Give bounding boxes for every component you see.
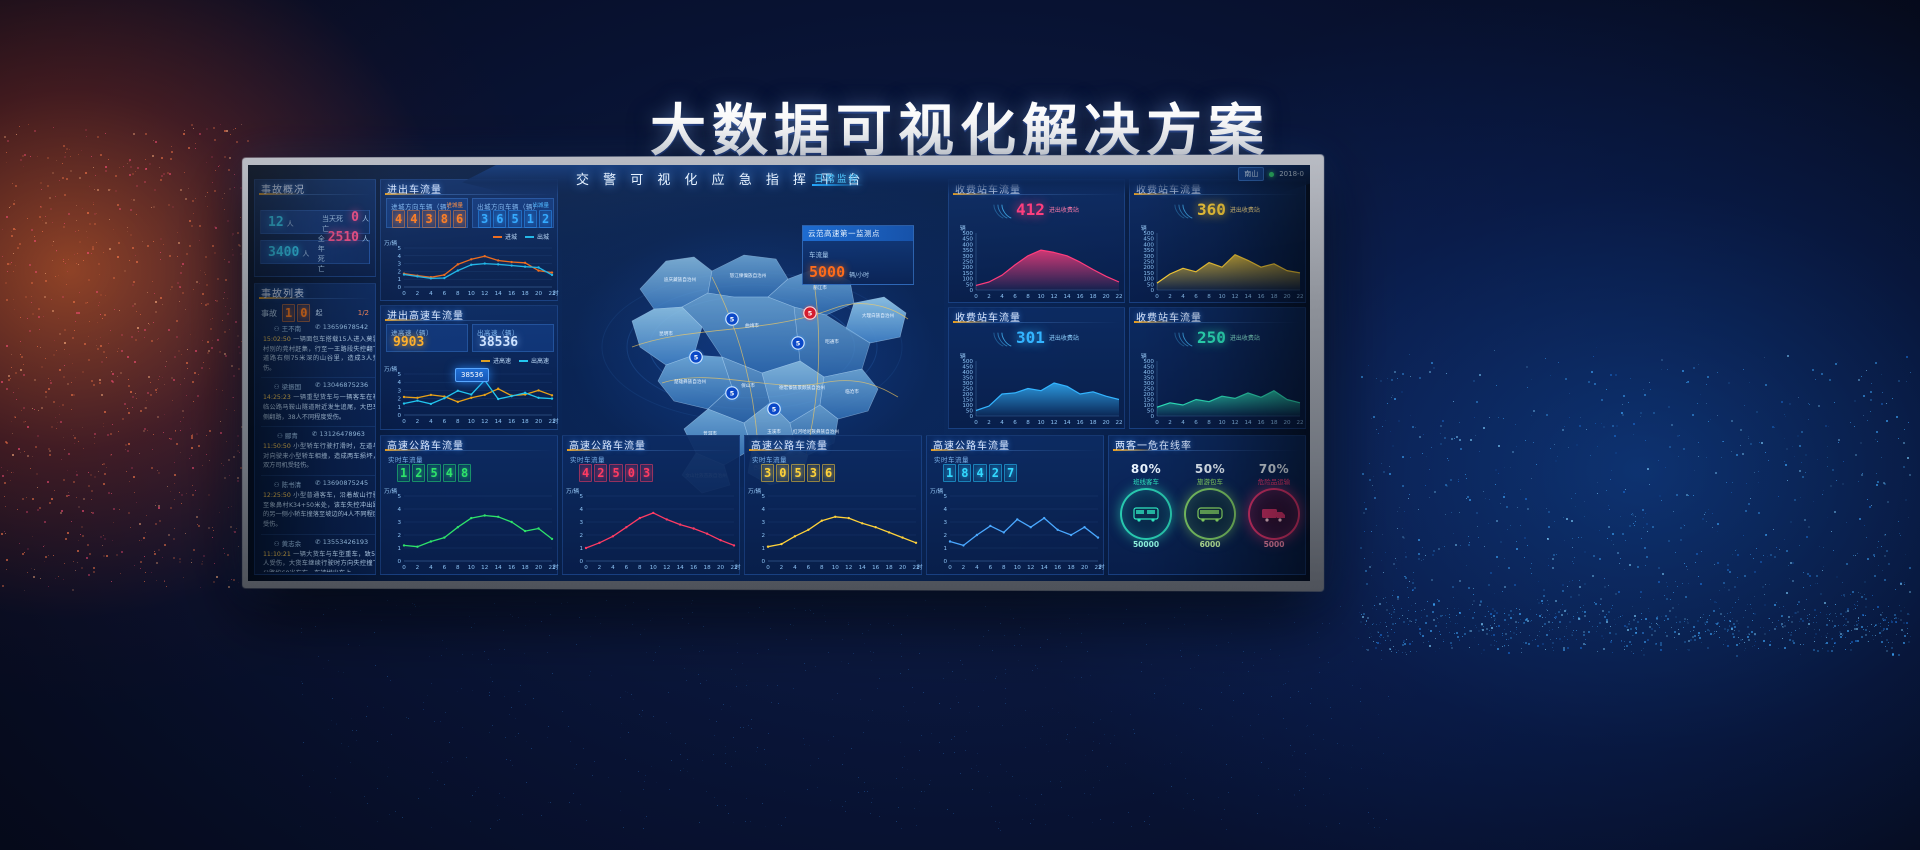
svg-text:8: 8 bbox=[1207, 420, 1211, 426]
svg-text:22: 22 bbox=[1296, 420, 1303, 426]
svg-text:4: 4 bbox=[429, 565, 433, 571]
svg-text:2: 2 bbox=[598, 565, 602, 571]
svg-text:0: 0 bbox=[766, 565, 770, 571]
dashboard-header: 交 警 可 视 化 应 急 指 挥 平 台 日常监控 bbox=[462, 165, 1310, 195]
accident-pager[interactable]: 1/2 bbox=[358, 309, 369, 317]
accident-text: 12:25:50 小型普通客车，沿着故山行驶至象鼻村K34+50米处，该车失控冲… bbox=[261, 489, 375, 529]
panel-title: 进出车流量 bbox=[387, 181, 442, 196]
svg-text:0: 0 bbox=[584, 565, 588, 571]
svg-text:18: 18 bbox=[704, 565, 712, 571]
panel-highway-flow-3: 高速公路车流量 实时车流量 30536 万/辆01234502468101214… bbox=[744, 435, 922, 575]
panel-title: 两客一危在线率 bbox=[1115, 437, 1192, 452]
digit: 2 bbox=[412, 464, 425, 482]
svg-text:0: 0 bbox=[761, 559, 765, 565]
accident-time: 12:25:50 bbox=[263, 492, 293, 499]
svg-text:万/辆: 万/辆 bbox=[384, 487, 397, 495]
accident-contact: ⚇ 郦青✆ 13126478963 bbox=[261, 430, 375, 440]
svg-text:20: 20 bbox=[1283, 420, 1291, 426]
svg-text:18: 18 bbox=[522, 291, 530, 297]
decorative-dot-field-bottom bbox=[300, 600, 1400, 840]
svg-text:20: 20 bbox=[899, 565, 907, 571]
svg-text:12: 12 bbox=[481, 419, 488, 425]
inout-digits-in: 44386 bbox=[392, 210, 466, 228]
digit: 6 bbox=[493, 210, 506, 228]
map-region-label: 保山市 bbox=[741, 382, 755, 389]
svg-text:2: 2 bbox=[416, 291, 420, 297]
toll-chart-3: 辆500450400350300250200150100500024681012… bbox=[950, 352, 1125, 428]
panel-header: 进出高速车流量 bbox=[381, 306, 557, 321]
panel-title: 收费站车流量 bbox=[1136, 309, 1202, 324]
svg-text:6: 6 bbox=[625, 565, 629, 571]
digit: 4 bbox=[579, 464, 592, 482]
svg-text:2: 2 bbox=[397, 533, 401, 539]
map-region-label: 迪庆藏族自治州 bbox=[664, 276, 697, 283]
svg-text:8: 8 bbox=[1207, 294, 1211, 300]
svg-text:万/辆: 万/辆 bbox=[748, 487, 761, 495]
svg-text:3: 3 bbox=[579, 520, 583, 526]
toll-big-number-4: 250 进出收费站 bbox=[1176, 326, 1260, 348]
panel-header: 事故列表 bbox=[255, 284, 375, 299]
svg-text:0: 0 bbox=[397, 413, 401, 419]
svg-text:16: 16 bbox=[872, 565, 880, 571]
panel-toll-3: 收费站车流量 301 进出收费站 辆5004504003503002502001… bbox=[948, 307, 1125, 429]
digit: 6 bbox=[453, 210, 466, 228]
panel-title: 收费站车流量 bbox=[955, 309, 1021, 324]
panel-highway-flow-2: 高速公路车流量 实时车流量 42503 万/辆01234502468101214… bbox=[562, 435, 740, 575]
svg-text:4: 4 bbox=[579, 507, 583, 513]
map-region-label: 楚雄彝族自治州 bbox=[674, 378, 707, 385]
svg-text:0: 0 bbox=[969, 288, 973, 294]
callout-value-row: 5000 辆/小时 bbox=[803, 261, 913, 284]
map-marker-label: 5 bbox=[730, 316, 735, 324]
svg-text:20: 20 bbox=[535, 419, 543, 425]
accident-text: 15:02:50 一辆面包车搭载15人进入莫雷村别的莞村赶集，行至一王路段失控翻… bbox=[261, 333, 375, 373]
svg-text:16: 16 bbox=[508, 419, 516, 425]
svg-text:1: 1 bbox=[397, 405, 401, 411]
digit: 5 bbox=[508, 210, 521, 228]
svg-text:8: 8 bbox=[456, 565, 460, 571]
svg-text:3: 3 bbox=[397, 520, 401, 526]
digit: 1 bbox=[397, 464, 410, 482]
svg-text:20: 20 bbox=[1283, 294, 1291, 300]
digit: 2 bbox=[539, 210, 552, 228]
svg-text:2: 2 bbox=[416, 419, 420, 425]
svg-text:4: 4 bbox=[1181, 420, 1185, 426]
svg-text:20: 20 bbox=[535, 565, 543, 571]
reporter-name: ⚇ 王不南 bbox=[274, 323, 301, 333]
tab-daily-monitor[interactable]: 日常监控 bbox=[814, 171, 860, 185]
toll-chart-1: 辆500450400350300250200150100500024681012… bbox=[950, 224, 1125, 302]
svg-text:2: 2 bbox=[1168, 420, 1172, 426]
svg-text:0: 0 bbox=[402, 565, 406, 571]
svg-text:20: 20 bbox=[1102, 294, 1110, 300]
svg-text:16: 16 bbox=[1257, 294, 1265, 300]
svg-text:时: 时 bbox=[1099, 563, 1105, 571]
reporter-phone: ✆ 13046875236 bbox=[315, 381, 368, 391]
svg-text:6: 6 bbox=[443, 565, 447, 571]
svg-text:18: 18 bbox=[1270, 294, 1278, 300]
svg-text:14: 14 bbox=[1063, 294, 1071, 300]
map-marker-label: 5 bbox=[808, 310, 813, 318]
digit: 2 bbox=[989, 464, 1002, 482]
panel-toll-4: 收费站车流量 250 进出收费站 辆5004504003503002502001… bbox=[1129, 307, 1306, 429]
svg-text:10: 10 bbox=[468, 291, 476, 297]
panel-title: 高速公路车流量 bbox=[751, 437, 828, 452]
svg-text:22: 22 bbox=[1115, 420, 1122, 426]
digit: 5 bbox=[427, 464, 440, 482]
svg-text:4: 4 bbox=[975, 565, 979, 571]
digit: 4 bbox=[443, 464, 456, 482]
svg-text:12: 12 bbox=[1050, 420, 1057, 426]
reporter-name: ⚇ 郦青 bbox=[277, 430, 298, 440]
svg-text:14: 14 bbox=[1041, 565, 1049, 571]
map-marker-label: 5 bbox=[730, 390, 735, 398]
svg-text:2: 2 bbox=[987, 294, 991, 300]
svg-text:时: 时 bbox=[553, 417, 559, 425]
accident-contact: ⚇ 陈书清✆ 13690875245 bbox=[261, 479, 375, 489]
accident-time: 11:50:50 bbox=[263, 443, 293, 450]
accident-items[interactable]: ⚇ 王不南✆ 1365967854215:02:50 一辆面包车搭载15人进入莫… bbox=[255, 320, 375, 572]
svg-text:3: 3 bbox=[397, 262, 401, 268]
svg-text:万/辆: 万/辆 bbox=[930, 487, 943, 495]
svg-text:6: 6 bbox=[1194, 420, 1198, 426]
svg-text:14: 14 bbox=[495, 565, 503, 571]
panel-title: 高速公路车流量 bbox=[387, 437, 464, 452]
svg-text:18: 18 bbox=[886, 565, 894, 571]
svg-text:2: 2 bbox=[397, 269, 401, 275]
overview-cell: 全年死亡2510人 bbox=[311, 230, 369, 274]
svg-text:1: 1 bbox=[397, 546, 401, 552]
svg-text:0: 0 bbox=[1150, 414, 1154, 420]
svg-text:12: 12 bbox=[481, 291, 488, 297]
accident-contact: ⚇ 王不南✆ 13659678542 bbox=[261, 323, 375, 333]
tab-underline bbox=[812, 184, 864, 186]
svg-text:16: 16 bbox=[508, 565, 516, 571]
svg-text:10: 10 bbox=[468, 419, 476, 425]
svg-text:12: 12 bbox=[1231, 294, 1238, 300]
svg-text:20: 20 bbox=[1102, 420, 1110, 426]
svg-text:18: 18 bbox=[1270, 420, 1278, 426]
reporter-phone: ✆ 13659678542 bbox=[315, 323, 368, 333]
panel-title: 事故概况 bbox=[261, 181, 305, 196]
digit: 5 bbox=[791, 464, 804, 482]
svg-text:16: 16 bbox=[690, 565, 698, 571]
svg-text:时: 时 bbox=[917, 563, 923, 571]
highway-chart-1: 万/辆0123450246810121416182022时 bbox=[382, 486, 558, 574]
svg-text:0: 0 bbox=[948, 565, 952, 571]
svg-text:6: 6 bbox=[1013, 420, 1017, 426]
accident-time: 14:25:23 bbox=[263, 394, 293, 401]
panel-highway-flow-1: 高速公路车流量 实时车流量 12548 万/辆01234502468101214… bbox=[380, 435, 558, 575]
svg-text:10: 10 bbox=[1218, 420, 1226, 426]
map-region-label: 昭通市 bbox=[825, 338, 839, 345]
map-region-label: 大理白族自治州 bbox=[862, 312, 895, 319]
svg-text:0: 0 bbox=[402, 291, 406, 297]
svg-text:12: 12 bbox=[845, 565, 852, 571]
svg-text:4: 4 bbox=[761, 507, 765, 513]
svg-text:12: 12 bbox=[481, 565, 488, 571]
svg-text:14: 14 bbox=[677, 565, 685, 571]
svg-text:22: 22 bbox=[1115, 294, 1122, 300]
svg-text:8: 8 bbox=[1026, 420, 1030, 426]
map-region-label: 曲靖市 bbox=[745, 322, 759, 329]
overview-cell: 12人 bbox=[261, 215, 315, 230]
reporter-phone: ✆ 13553426193 bbox=[315, 538, 368, 548]
map-marker-label: 5 bbox=[772, 406, 777, 414]
panel-accident-overview: 事故概况 12人 当天死亡0人 3400人 全年死亡2510人 bbox=[254, 179, 376, 277]
accident-text: 14:25:23 一辆重型货车与一辆客车在祥临公路马鞍山隧道附近发生追尾，大巴车… bbox=[261, 391, 375, 422]
svg-text:8: 8 bbox=[638, 565, 642, 571]
svg-text:6: 6 bbox=[1013, 294, 1017, 300]
svg-text:4: 4 bbox=[397, 507, 401, 513]
svg-text:0: 0 bbox=[1150, 288, 1154, 294]
svg-text:6: 6 bbox=[443, 291, 447, 297]
digit: 8 bbox=[958, 464, 971, 482]
accident-item[interactable]: ⚇ 黄志余✆ 1355342619311:10:21 一辆大货车与车型重车，致5… bbox=[261, 535, 375, 572]
highway-digits-4: 18427 bbox=[943, 464, 1017, 482]
overview-row-year: 3400人 全年死亡2510人 bbox=[260, 240, 370, 264]
panel-highway-flow-4: 高速公路车流量 实时车流量 18427 万/辆01234502468101214… bbox=[926, 435, 1104, 575]
svg-text:4: 4 bbox=[1000, 420, 1004, 426]
svg-text:14: 14 bbox=[1244, 294, 1252, 300]
reporter-phone: ✆ 13690875245 bbox=[315, 479, 368, 489]
svg-text:1: 1 bbox=[579, 546, 583, 552]
svg-text:0: 0 bbox=[974, 294, 978, 300]
svg-text:20: 20 bbox=[717, 565, 725, 571]
svg-text:22: 22 bbox=[1296, 294, 1303, 300]
reporter-name: ⚇ 陈书清 bbox=[274, 479, 301, 489]
svg-text:10: 10 bbox=[650, 565, 658, 571]
svg-text:1: 1 bbox=[761, 546, 765, 552]
svg-text:0: 0 bbox=[974, 420, 978, 426]
svg-text:5: 5 bbox=[579, 494, 583, 500]
accident-item[interactable]: ⚇ 王不南✆ 1365967854215:02:50 一辆面包车搭载15人进入莫… bbox=[261, 320, 375, 378]
coach-icon bbox=[1197, 506, 1223, 522]
digit: 3 bbox=[807, 464, 820, 482]
svg-text:18: 18 bbox=[522, 419, 530, 425]
accident-text: 11:50:50 小型轿车行驶打滑时，左道与对向驶来小型轿车相撞，造成两车损坏，… bbox=[261, 440, 375, 471]
svg-text:0: 0 bbox=[969, 414, 973, 420]
digit: 3 bbox=[640, 464, 653, 482]
digit: 2 bbox=[594, 464, 607, 482]
svg-text:万/辆: 万/辆 bbox=[566, 487, 579, 495]
map-region-label: 丽江市 bbox=[813, 284, 827, 291]
svg-text:10: 10 bbox=[1218, 294, 1226, 300]
digit: 3 bbox=[761, 464, 774, 482]
svg-text:6: 6 bbox=[989, 565, 993, 571]
svg-text:0: 0 bbox=[1155, 294, 1159, 300]
svg-text:4: 4 bbox=[429, 291, 433, 297]
decorative-dot-field-right bbox=[1360, 300, 1920, 720]
svg-text:0: 0 bbox=[1155, 420, 1159, 426]
map-region-label: 昆明市 bbox=[659, 330, 673, 337]
digit: 4 bbox=[392, 210, 405, 228]
accident-item[interactable]: ⚇ 陈书清✆ 1369087524512:25:50 小型普通客车，沿着故山行驶… bbox=[261, 476, 375, 534]
svg-text:3: 3 bbox=[761, 520, 765, 526]
svg-text:0: 0 bbox=[943, 559, 947, 565]
svg-text:14: 14 bbox=[859, 565, 867, 571]
svg-text:4: 4 bbox=[397, 254, 401, 260]
svg-text:3: 3 bbox=[943, 520, 947, 526]
digit: 8 bbox=[458, 464, 471, 482]
svg-text:8: 8 bbox=[456, 419, 460, 425]
header-status: 南山 2018-0 bbox=[1238, 167, 1304, 181]
panel-header: 事故概况 bbox=[255, 180, 375, 195]
highway-chart-2: 万/辆0123450246810121416182022时 bbox=[564, 486, 740, 574]
svg-text:0: 0 bbox=[579, 559, 583, 565]
digit: 3 bbox=[422, 210, 435, 228]
svg-text:4: 4 bbox=[611, 565, 615, 571]
panel-title: 进出高速车流量 bbox=[387, 307, 464, 322]
svg-text:12: 12 bbox=[663, 565, 670, 571]
svg-text:6: 6 bbox=[443, 419, 447, 425]
svg-text:0: 0 bbox=[397, 559, 401, 565]
svg-text:5: 5 bbox=[397, 372, 401, 378]
digit: 6 bbox=[822, 464, 835, 482]
map-region-label: 临沧市 bbox=[845, 388, 859, 395]
dashboard-root: 交 警 可 视 化 应 急 指 挥 平 台 日常监控 南山 2018-0 事故概… bbox=[248, 165, 1310, 581]
inout-digits-out: 36512 bbox=[478, 210, 552, 228]
svg-text:10: 10 bbox=[468, 565, 476, 571]
digit: 1 bbox=[943, 464, 956, 482]
map-region-label: 德宏傣族景颇族自治州 bbox=[779, 384, 825, 391]
panel-title: 高速公路车流量 bbox=[569, 437, 646, 452]
svg-text:8: 8 bbox=[456, 291, 460, 297]
svg-text:10: 10 bbox=[1037, 420, 1045, 426]
map-region-label: 红河哈尼族彝族自治州 bbox=[793, 428, 839, 435]
svg-text:2: 2 bbox=[943, 533, 947, 539]
monitor-panel: 交 警 可 视 化 应 急 指 挥 平 台 日常监控 南山 2018-0 事故概… bbox=[248, 165, 1310, 581]
svg-text:2: 2 bbox=[579, 533, 583, 539]
digit: 0 bbox=[776, 464, 789, 482]
digit: 0 bbox=[625, 464, 638, 482]
svg-text:16: 16 bbox=[1076, 294, 1084, 300]
decorative-dot-field-left bbox=[0, 120, 260, 600]
panel-online-rate: 两客一危在线率 80% 班线客车 50000 bbox=[1108, 435, 1306, 575]
status-datetime: 2018-0 bbox=[1279, 170, 1304, 178]
svg-text:5: 5 bbox=[761, 494, 765, 500]
toll-big-number-2: 360 进出收费站 bbox=[1176, 198, 1260, 220]
svg-text:6: 6 bbox=[807, 565, 811, 571]
panel-title: 高速公路车流量 bbox=[933, 437, 1010, 452]
svg-text:8: 8 bbox=[1002, 565, 1006, 571]
panel-title: 事故列表 bbox=[261, 285, 305, 300]
highway-digits-2: 42503 bbox=[579, 464, 653, 482]
toll-chart-4: 辆500450400350300250200150100500024681012… bbox=[1131, 352, 1306, 428]
callout-title: 云范高速第一监测点 bbox=[803, 226, 913, 241]
digit: 4 bbox=[407, 210, 420, 228]
inout-card-in: 进城方向车辆（辆） 进城量 44386 bbox=[386, 198, 468, 228]
inout-flow-chart: 万/辆0123450246810121416182022时 bbox=[382, 238, 558, 300]
accident-item[interactable]: ⚇ 郦青✆ 1312647896311:50:50 小型轿车行驶打滑时，左道与对… bbox=[261, 427, 375, 476]
svg-text:5: 5 bbox=[397, 246, 401, 252]
svg-text:16: 16 bbox=[1257, 420, 1265, 426]
svg-text:时: 时 bbox=[553, 563, 559, 571]
map-marker-label: 5 bbox=[796, 340, 801, 348]
svg-text:10: 10 bbox=[832, 565, 840, 571]
map-marker-label: 5 bbox=[694, 354, 699, 362]
svg-text:8: 8 bbox=[820, 565, 824, 571]
svg-text:10: 10 bbox=[1037, 294, 1045, 300]
bus-icon bbox=[1133, 506, 1159, 522]
digit: 3 bbox=[478, 210, 491, 228]
svg-text:0: 0 bbox=[397, 285, 401, 291]
toll-big-number-1: 412 进出收费站 bbox=[995, 198, 1079, 220]
svg-text:12: 12 bbox=[1027, 565, 1034, 571]
accident-item[interactable]: ⚇ 梁振国✆ 1304687523614:25:23 一辆重型货车与一辆客车在祥… bbox=[261, 378, 375, 427]
svg-text:12: 12 bbox=[1050, 294, 1057, 300]
svg-text:4: 4 bbox=[1181, 294, 1185, 300]
dashboard-screen: 交 警 可 视 化 应 急 指 挥 平 台 日常监控 南山 2018-0 事故概… bbox=[238, 156, 1320, 590]
digit: 5 bbox=[609, 464, 622, 482]
highway-card-out: 出高速（辆） 38536 bbox=[472, 324, 554, 352]
map-region-label: 怒江傈僳族自治州 bbox=[730, 272, 767, 279]
hero-stage: 大数据可视化解决方案 交 警 可 视 化 应 急 指 挥 平 台 日常监控 南山… bbox=[0, 0, 1920, 850]
digit: 1 bbox=[524, 210, 537, 228]
svg-text:时: 时 bbox=[553, 289, 559, 297]
digit: 7 bbox=[1004, 464, 1017, 482]
overview-cell: 3400人 bbox=[261, 245, 311, 260]
status-online-dot bbox=[1269, 172, 1274, 177]
reporter-name: ⚇ 梁振国 bbox=[274, 381, 301, 391]
chart-tooltip: 38536 bbox=[455, 368, 489, 382]
highway-digits-1: 12548 bbox=[397, 464, 471, 482]
map-region-label: 玉溪市 bbox=[767, 428, 781, 435]
svg-text:4: 4 bbox=[1000, 294, 1004, 300]
svg-text:时: 时 bbox=[735, 563, 741, 571]
gauge-hazmat: 70% 危险品运输 5000 bbox=[1239, 462, 1309, 549]
toll-chart-2: 辆500450400350300250200150100500024681012… bbox=[1131, 224, 1306, 302]
digit: 4 bbox=[973, 464, 986, 482]
highway-chart-3: 万/辆0123450246810121416182022时 bbox=[746, 486, 922, 574]
hazmat-truck-icon bbox=[1261, 506, 1287, 522]
svg-text:10: 10 bbox=[1014, 565, 1022, 571]
accident-text: 11:10:21 一辆大货车与车型重车，致50人受伤，大货车继续行驶时方向失控撞… bbox=[261, 548, 375, 572]
svg-text:8: 8 bbox=[1026, 294, 1030, 300]
toll-big-number-3: 301 进出收费站 bbox=[995, 326, 1079, 348]
accident-contact: ⚇ 黄志余✆ 13553426193 bbox=[261, 538, 375, 548]
svg-text:3: 3 bbox=[397, 388, 401, 394]
svg-text:万/辆: 万/辆 bbox=[384, 239, 397, 247]
svg-text:14: 14 bbox=[1063, 420, 1071, 426]
svg-text:18: 18 bbox=[1089, 294, 1097, 300]
svg-text:5: 5 bbox=[397, 494, 401, 500]
map-callout: 云范高速第一监测点 车流量 5000 辆/小时 bbox=[802, 225, 914, 285]
inout-card-out: 出城方向车辆（辆） 出城量 36512 bbox=[472, 198, 554, 228]
highway-chart-4: 万/辆0123450246810121416182022时 bbox=[928, 486, 1104, 574]
accident-contact: ⚇ 梁振国✆ 13046875236 bbox=[261, 381, 375, 391]
highway-digits-3: 30536 bbox=[761, 464, 835, 482]
svg-text:2: 2 bbox=[761, 533, 765, 539]
svg-text:万/辆: 万/辆 bbox=[384, 365, 397, 373]
svg-text:4: 4 bbox=[943, 507, 947, 513]
gauge-bus: 80% 班线客车 50000 bbox=[1111, 462, 1181, 549]
svg-text:14: 14 bbox=[495, 291, 503, 297]
svg-text:4: 4 bbox=[793, 565, 797, 571]
svg-text:6: 6 bbox=[1194, 294, 1198, 300]
accident-time: 15:02:50 bbox=[263, 336, 293, 343]
gauge-tour: 50% 旅游包车 6000 bbox=[1175, 462, 1245, 549]
svg-text:16: 16 bbox=[508, 291, 516, 297]
panel-toll-1: 收费站车流量 412 进出收费站 辆5004504003503002502001… bbox=[948, 179, 1125, 303]
svg-text:2: 2 bbox=[962, 565, 966, 571]
status-region[interactable]: 南山 bbox=[1238, 167, 1264, 181]
svg-text:16: 16 bbox=[1076, 420, 1084, 426]
svg-text:18: 18 bbox=[1089, 420, 1097, 426]
panel-inout-flow: 进出车流量 进城方向车辆（辆） 进城量 44386 出城方向车辆（辆） 出城量 … bbox=[380, 179, 558, 301]
svg-text:2: 2 bbox=[780, 565, 784, 571]
reporter-phone: ✆ 13126478963 bbox=[312, 430, 365, 440]
